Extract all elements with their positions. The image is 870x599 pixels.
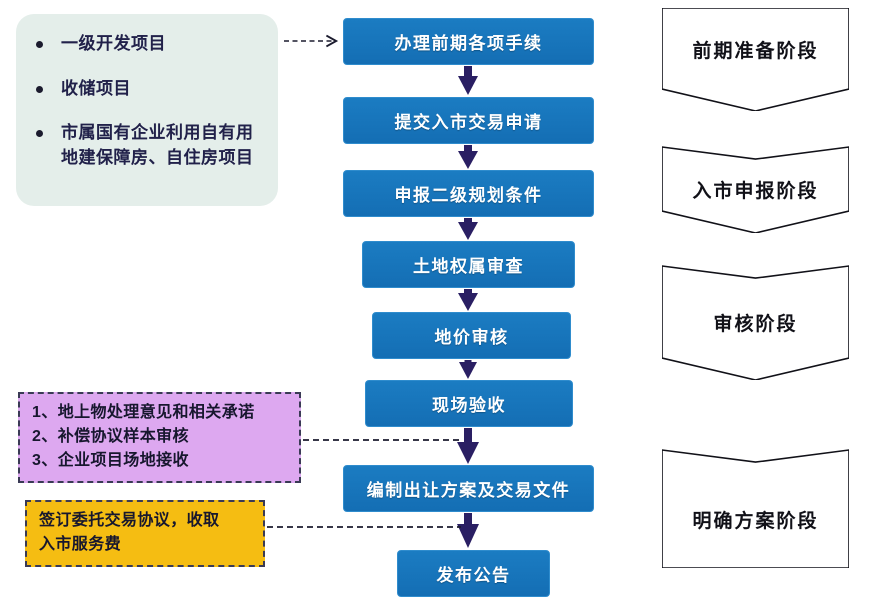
phase-chevron-shape [662,428,849,568]
callout-line: 1、地上物处理意见和相关承诺 [32,401,287,425]
flowchart-canvas: 一级开发项目 收储项目 市属国有企业利用自有用地建保障房、自住房项目 办理前期各… [0,0,870,599]
phase-banner: 入市申报阶段 [662,125,849,233]
process-step-box[interactable]: 办理前期各项手续 [343,18,594,65]
process-step-box[interactable]: 土地权属审查 [362,241,575,288]
arrow-step1-step2 [458,66,478,95]
criteria-item-label: 一级开发项目 [61,32,166,57]
phase-chevron-shape [662,8,849,111]
bullet-icon [36,41,43,48]
bullet-icon [36,130,43,137]
arrow-step7-step8 [457,513,479,548]
annotation-callout-yellow: 签订委托交易协议，收取 入市服务费 [25,500,265,567]
callout-line: 3、企业项目场地接收 [32,449,287,473]
process-step-box[interactable]: 地价审核 [372,312,571,359]
process-step-box[interactable]: 申报二级规划条件 [343,170,594,217]
process-step-label: 土地权属审查 [413,252,524,277]
callout-line: 入市服务费 [39,533,251,557]
annotation-callout-purple: 1、地上物处理意见和相关承诺 2、补偿协议样本审核 3、企业项目场地接收 [18,392,301,483]
callout-line: 2、补偿协议样本审核 [32,425,287,449]
phase-banner: 明确方案阶段 [662,428,849,568]
callout-line: 签订委托交易协议，收取 [39,509,251,533]
process-step-label: 编制出让方案及交易文件 [367,476,571,501]
criteria-item-label: 市属国有企业利用自有用地建保障房、自住房项目 [61,121,264,170]
arrow-step4-step5 [458,289,478,311]
bullet-icon [36,86,43,93]
arrow-step6-step7 [457,428,479,464]
process-step-label: 现场验收 [432,391,506,416]
process-step-label: 地价审核 [435,323,509,348]
process-step-label: 提交入市交易申请 [395,108,543,133]
process-step-box[interactable]: 现场验收 [365,380,573,427]
criteria-list: 一级开发项目 收储项目 市属国有企业利用自有用地建保障房、自住房项目 [26,32,264,171]
phase-banner: 前期准备阶段 [662,8,849,111]
process-step-label: 发布公告 [437,561,511,586]
process-step-label: 办理前期各项手续 [395,29,543,54]
list-item: 一级开发项目 [26,32,264,57]
process-step-label: 申报二级规划条件 [395,181,543,206]
phase-chevron-shape [662,125,849,233]
phase-banner: 审核阶段 [662,244,849,380]
process-step-box[interactable]: 发布公告 [397,550,550,597]
arrow-step2-step3 [458,145,478,169]
process-step-box[interactable]: 提交入市交易申请 [343,97,594,144]
arrow-step3-step4 [458,218,478,240]
list-item: 市属国有企业利用自有用地建保障房、自住房项目 [26,121,264,170]
criteria-panel: 一级开发项目 收储项目 市属国有企业利用自有用地建保障房、自住房项目 [16,14,278,206]
arrow-step5-step6 [459,360,477,379]
list-item: 收储项目 [26,77,264,102]
process-step-box[interactable]: 编制出让方案及交易文件 [343,465,594,512]
criteria-item-label: 收储项目 [61,77,131,102]
phase-chevron-shape [662,244,849,380]
